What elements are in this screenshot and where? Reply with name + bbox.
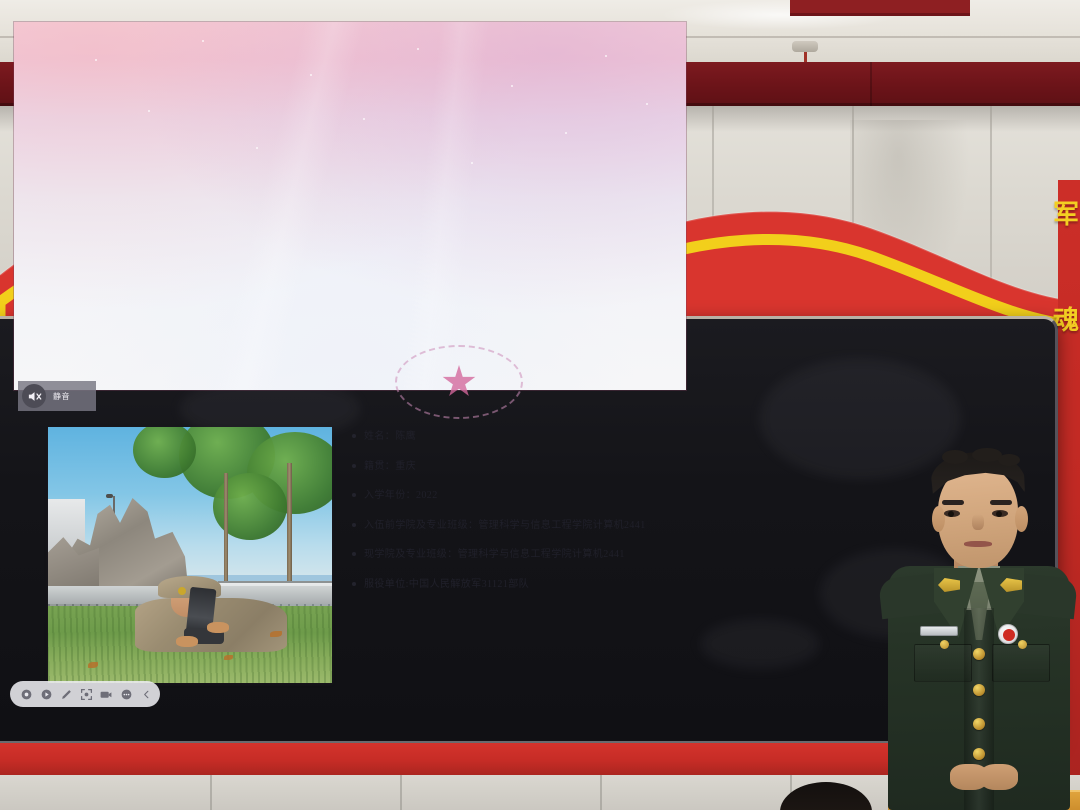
pocket-button: [940, 640, 949, 649]
photo-tree-trunk: [287, 463, 292, 596]
photo-leaf: [224, 655, 233, 660]
bullet-text: 籍贯：重庆: [364, 458, 416, 477]
bullet-text: 姓名：陈鹰: [364, 428, 416, 447]
slide-seal-watermark: [395, 345, 523, 419]
uniform-pocket-right: [992, 644, 1050, 682]
mute-status-badge[interactable]: 静音: [18, 381, 96, 411]
uniform-button: [973, 748, 985, 760]
photo-leaf: [88, 662, 98, 668]
band-seam: [870, 62, 872, 106]
bullet-dot-icon: [352, 464, 356, 468]
uniform-button: [973, 648, 985, 660]
hair-tuft: [942, 450, 968, 464]
uniform-button: [973, 684, 985, 696]
presenter: [880, 448, 1080, 810]
bullet-dot-icon: [352, 552, 356, 556]
chalk-smudge: [700, 619, 820, 669]
display-toolbar[interactable]: [10, 681, 160, 707]
presenter-eye-left: [944, 510, 960, 517]
presenter-ear-right: [1015, 506, 1028, 532]
play-button[interactable]: [36, 684, 56, 704]
tile-seam: [400, 775, 402, 810]
slide-light-streaks: [14, 22, 686, 390]
speaker-muted-icon: [22, 384, 46, 408]
bullet-text: 入伍前学院及专业班级：管理科学与信息工程学院计算机2441: [364, 517, 646, 536]
slide-background-tint: [14, 22, 686, 390]
list-item: 入学年份：2022: [352, 487, 652, 506]
presenter-nose: [972, 514, 984, 530]
uniform-chest-bar: [920, 626, 958, 636]
hair-tuft: [998, 454, 1020, 466]
list-item: 籍贯：重庆: [352, 458, 652, 477]
classroom-scene: 军 魂 静音: [0, 0, 1080, 810]
bullet-dot-icon: [352, 493, 356, 497]
capture-region-button[interactable]: [76, 684, 96, 704]
more-options-button[interactable]: [116, 684, 136, 704]
screenshot-button[interactable]: [96, 684, 116, 704]
photo-lamp-head: [106, 494, 113, 498]
record-button[interactable]: [16, 684, 36, 704]
list-item: 入伍前学院及专业班级：管理科学与信息工程学院计算机2441: [352, 517, 652, 536]
projection-display[interactable]: [14, 22, 686, 390]
presenter-ear-left: [932, 506, 945, 532]
presenter-brow-right: [990, 500, 1012, 505]
uniform-round-badge: [998, 624, 1018, 644]
collapse-toolbar-button[interactable]: [136, 684, 156, 704]
bullet-text: 入学年份：2022: [364, 487, 438, 506]
mute-label: 静音: [53, 391, 70, 402]
tile-seam: [600, 775, 602, 810]
presenter-brow-left: [942, 500, 964, 505]
annotate-button[interactable]: [56, 684, 76, 704]
wall-glyph: 军: [1053, 202, 1079, 228]
bullet-dot-icon: [352, 523, 356, 527]
soldier-hand: [176, 636, 197, 647]
slide-sparkle-dots: [14, 22, 686, 390]
ceiling-sprinkler: [792, 41, 818, 52]
list-item: 姓名：陈鹰: [352, 428, 652, 447]
bullet-text: 现学院及专业班级：管理科学与信息工程学院计算机2441: [364, 546, 625, 565]
tile-seam: [210, 775, 212, 810]
slide-photo: [48, 427, 332, 683]
uniform-button: [973, 718, 985, 730]
photo-soldier: [122, 565, 287, 652]
bullet-text: 服役单位:中国人民解放军31121部队: [364, 576, 529, 595]
list-item: 现学院及专业班级：管理科学与信息工程学院计算机2441: [352, 546, 652, 565]
wall-frame-fragment: [790, 0, 970, 16]
soldier-hand: [207, 622, 228, 633]
bullet-dot-icon: [352, 582, 356, 586]
photo-leaf: [270, 631, 282, 637]
pocket-button: [1018, 640, 1027, 649]
presenter-mouth: [964, 541, 992, 547]
presenter-eye-right: [992, 510, 1008, 517]
soldier-cap-badge: [178, 587, 186, 595]
list-item: 服役单位:中国人民解放军31121部队: [352, 576, 652, 595]
bullet-dot-icon: [352, 434, 356, 438]
uniform-pocket-left: [914, 644, 972, 682]
slide-bullet-list: 姓名：陈鹰 籍贯：重庆 入学年份：2022 入伍前学院及专业班级：管理科学与信息…: [352, 428, 652, 605]
presenter-hand-right: [980, 764, 1018, 790]
